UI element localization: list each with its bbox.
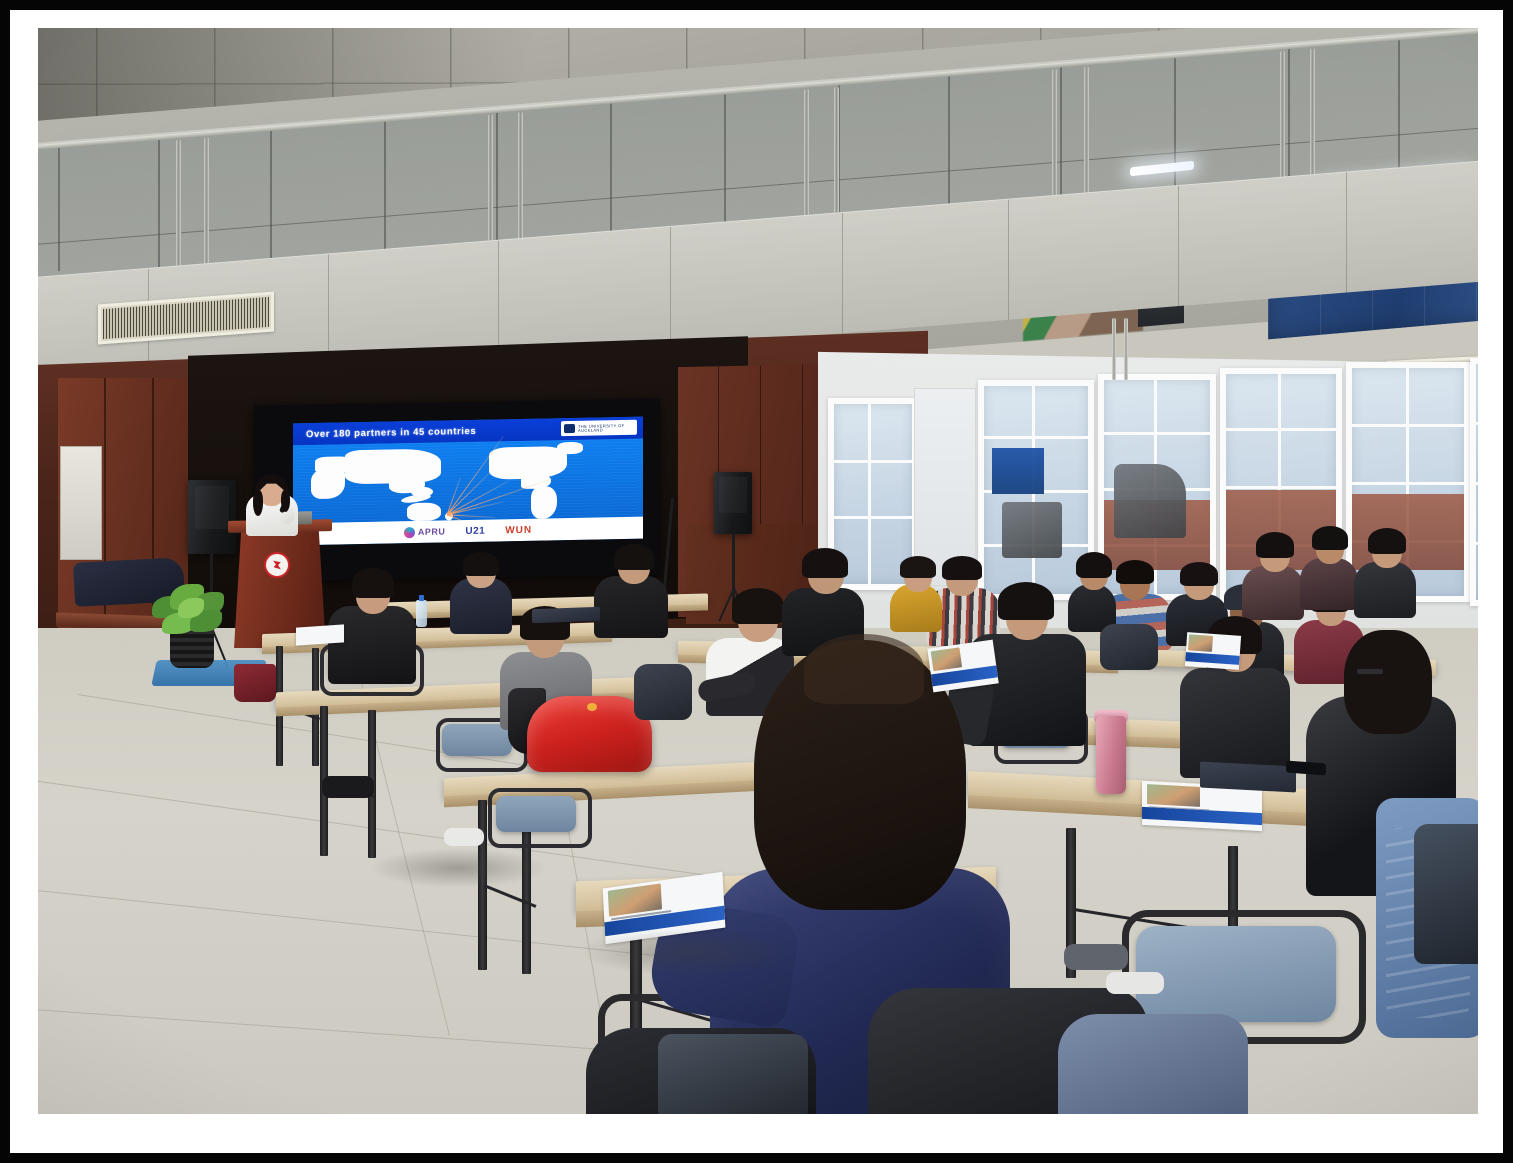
floor-speaker-left (188, 480, 236, 554)
logo-text: THE UNIVERSITY OF AUCKLAND (578, 423, 634, 432)
presentation-screen: Over 180 partners in 45 countries THE UN… (293, 417, 643, 546)
shield-icon (564, 424, 575, 433)
photo-frame: Over 180 partners in 45 countries THE UN… (0, 0, 1513, 1163)
sneaker-1 (444, 828, 484, 846)
mezzanine-support-post (1112, 318, 1116, 380)
world-map (293, 439, 643, 524)
brick-wall-outside-3 (1352, 494, 1464, 570)
eyeglasses-icon (1356, 668, 1384, 675)
sneaker-3 (1106, 972, 1164, 994)
university-of-auckland-logo: THE UNIVERSITY OF AUCKLAND (561, 420, 637, 436)
laptop-dark-right (1200, 761, 1296, 792)
brochure-far-right (1185, 632, 1241, 670)
sneaker-2 (1064, 944, 1128, 970)
laptop-front-row (532, 607, 600, 623)
red-handbag (234, 664, 276, 702)
floor-shadow-1 (368, 848, 548, 888)
floor-speaker-right (714, 472, 752, 534)
apru-label: APRU (418, 526, 446, 537)
backpack-foreground (658, 1034, 808, 1114)
backpack-right-floor (1414, 824, 1478, 964)
wall-panel-plate (60, 446, 102, 560)
gym-equipment (1002, 502, 1062, 558)
water-bottle (416, 600, 427, 627)
presenter-hair-right (281, 490, 290, 512)
brochure-mid (927, 640, 998, 693)
presenter-hair-left (253, 490, 263, 516)
slide-headline: Over 180 partners in 45 countries (306, 425, 476, 439)
mezzanine-support-post-2 (1124, 318, 1128, 380)
chair-6-front-seat[interactable] (1136, 926, 1336, 1022)
pink-thermos-flask (1096, 716, 1126, 794)
brochure-left (296, 624, 344, 645)
apru-logo: APRU (404, 526, 446, 538)
lecture-room-photograph: Over 180 partners in 45 countries THE UN… (38, 28, 1478, 1114)
floor-shadow-2 (578, 928, 798, 976)
chair-3-seat[interactable] (496, 796, 576, 832)
treadmill (1114, 464, 1186, 538)
university-crest-icon (264, 552, 290, 578)
apru-mark-icon (404, 527, 415, 538)
backpack-under-desk-2 (1100, 624, 1158, 670)
wun-logo: WUN (505, 524, 532, 536)
blue-poster (992, 448, 1044, 494)
potted-plant-foliage (146, 580, 236, 636)
u21-logo: U21 (465, 525, 485, 536)
window-pane-6 (1470, 358, 1478, 606)
backpack-under-desk-1 (634, 664, 692, 720)
shoe-dark-1 (322, 776, 374, 798)
